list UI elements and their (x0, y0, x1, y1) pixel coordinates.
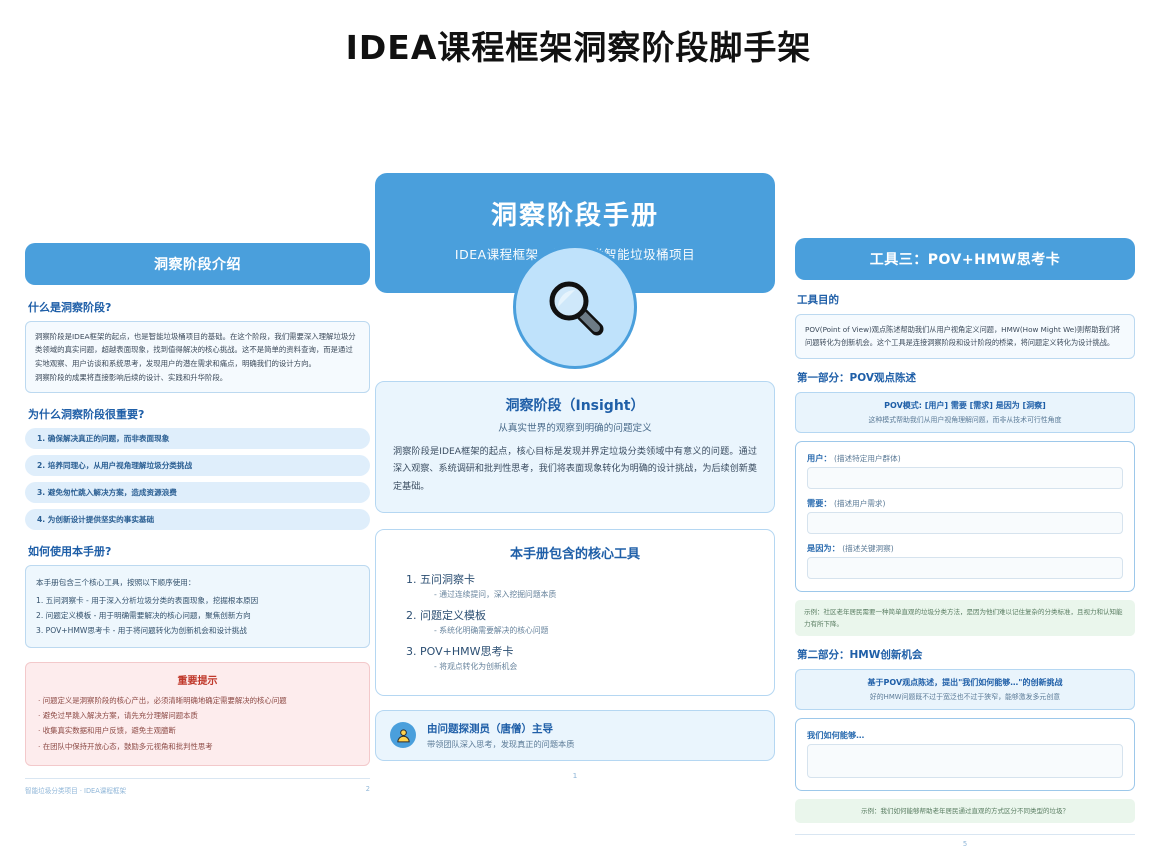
field-label-main: 是因为： (807, 543, 840, 553)
pov-field-need: 需要： (描述用户需求) (807, 497, 1123, 534)
hmw-pattern: 基于POV观点陈述，提出"我们如何能够…"的创新挑战 (805, 677, 1125, 688)
hmw-example: 示例：我们如何能够帮助老年居民通过直观的方式区分不同类型的垃圾？ (795, 799, 1135, 823)
tool-desc: - 将观点转化为创新机会 (434, 661, 754, 672)
field-label: 需要： (描述用户需求) (807, 497, 1123, 509)
field-label: 我们如何能够… (807, 729, 1123, 741)
insight-card-body: 洞察阶段是IDEA框架的起点，核心目标是发现并界定垃圾分类领域中有意义的问题。通… (393, 444, 757, 497)
how-to-use-intro: 本手册包含三个核心工具，按照以下顺序使用： (36, 575, 359, 590)
pov-pattern-sub: 这种模式帮助我们从用户视角理解问题，而非从技术可行性角度 (805, 414, 1125, 424)
core-tools-title: 本手册包含的核心工具 (396, 543, 754, 562)
field-label: 是因为： (描述关键洞察) (807, 542, 1123, 554)
handbook-title: 洞察阶段手册 (375, 195, 775, 232)
list-item: 收集真实数据和用户反馈，避免主观臆断 (38, 723, 357, 738)
right-page-number: 5 (795, 834, 1135, 848)
list-item: 3. 避免匆忙跳入解决方案，造成资源浪费 (25, 482, 370, 503)
pages-container: 洞察阶段介绍 什么是洞察阶段? 洞察阶段是IDEA框架的起点，也是智能垃圾桶项目… (0, 68, 1157, 768)
center-page: 洞察阶段手册 IDEA课程框架 · 垃圾分类智能垃圾桶项目 洞察阶段（Insig… (375, 173, 775, 763)
what-is-insight-body: 洞察阶段是IDEA框架的起点，也是智能垃圾桶项目的基础。在这个阶段，我们需要深入… (25, 321, 370, 394)
page-title: IDEA课程框架洞察阶段脚手架 (0, 0, 1157, 68)
list-item: 3. POV+HMW思考卡 - 用于将问题转化为创新机会和设计挑战 (36, 623, 359, 638)
left-page-footer: 智能垃圾分类项目 · IDEA课程框架 2 (25, 778, 370, 795)
list-item: 1. 五问洞察卡 - 用于深入分析垃圾分类的表面现象，挖掘根本原因 (36, 593, 359, 608)
list-item: 2. 问题定义模板 - 用于明确需要解决的核心问题，聚焦创新方向 (36, 608, 359, 623)
hmw-pattern-sub: 好的HMW问题既不过于宽泛也不过于狭窄，能够激发多元创意 (805, 691, 1125, 701)
field-label-hint: (描述用户需求) (834, 499, 886, 508)
list-item: 问题定义是洞察阶段的核心产出，必须清晰明确地确定需要解决的核心问题 (38, 693, 357, 708)
left-page-header: 洞察阶段介绍 (25, 243, 370, 285)
list-item: 2. 培养同理心，从用户视角理解垃圾分类挑战 (25, 455, 370, 476)
important-notice-title: 重要提示 (38, 672, 357, 687)
list-item: 1. 确保解决真正的问题，而非表面现象 (25, 428, 370, 449)
part1-title: 第一部分：POV观点陈述 (797, 370, 1135, 385)
pov-field-because: 是因为： (描述关键洞察) (807, 542, 1123, 579)
insight-card-subtitle: 从真实世界的观察到明确的问题定义 (393, 420, 757, 434)
center-page-number: 1 (375, 771, 775, 780)
center-body: 洞察阶段（Insight） 从真实世界的观察到明确的问题定义 洞察阶段是IDEA… (375, 381, 775, 780)
core-tools-card: 本手册包含的核心工具 1. 五问洞察卡 - 通过连续提问，深入挖掘问题本质 2.… (375, 529, 775, 696)
tool-purpose-body: POV(Point of View)观点陈述帮助我们从用户视角定义问题，HMW(… (795, 314, 1135, 359)
pov-field-user: 用户： (描述特定用户群体) (807, 452, 1123, 489)
why-insight-list: 1. 确保解决真正的问题，而非表面现象 2. 培养同理心，从用户视角理解垃圾分类… (25, 428, 370, 530)
field-label: 用户： (描述特定用户群体) (807, 452, 1123, 464)
insight-card-title: 洞察阶段（Insight） (393, 395, 757, 415)
important-notice-list: 问题定义是洞察阶段的核心产出，必须清晰明确地确定需要解决的核心问题 避免过早跳入… (38, 693, 357, 754)
footer-page-number: 2 (366, 785, 370, 795)
person-badge-icon (390, 722, 416, 748)
tool-desc: - 通过连续提问，深入挖掘问题本质 (434, 589, 754, 600)
insight-definition-card: 洞察阶段（Insight） 从真实世界的观察到明确的问题定义 洞察阶段是IDEA… (375, 381, 775, 513)
tool-name: 2. 问题定义模板 (406, 607, 754, 623)
need-input[interactable] (807, 512, 1123, 534)
because-input[interactable] (807, 557, 1123, 579)
tool-name: 1. 五问洞察卡 (406, 571, 754, 587)
hmw-input[interactable] (807, 744, 1123, 778)
field-label-main: 用户： (807, 453, 832, 463)
footer-text: 智能垃圾分类项目 · IDEA课程框架 (25, 785, 126, 795)
field-label-main: 需要： (807, 498, 832, 508)
list-item: 2. 问题定义模板 - 系统化明确需要解决的核心问题 (396, 607, 754, 636)
tool-purpose-title: 工具目的 (797, 292, 1135, 307)
lead-role-text: 由问题探测员（唐僧）主导 带领团队深入思考，发现真正的问题本质 (427, 721, 574, 750)
tool-name: 3. POV+HMW思考卡 (406, 643, 754, 659)
pov-pattern: POV模式: [用户] 需要 [需求] 是因为 [洞察] (805, 400, 1125, 411)
user-input[interactable] (807, 467, 1123, 489)
field-label-hint: (描述特定用户群体) (834, 454, 901, 463)
how-to-use-body: 本手册包含三个核心工具，按照以下顺序使用： 1. 五问洞察卡 - 用于深入分析垃… (25, 565, 370, 648)
why-insight-title: 为什么洞察阶段很重要? (28, 406, 370, 422)
tool-desc: - 系统化明确需要解决的核心问题 (434, 625, 754, 636)
pov-pattern-box: POV模式: [用户] 需要 [需求] 是因为 [洞察] 这种模式帮助我们从用户… (795, 392, 1135, 433)
hmw-pattern-box: 基于POV观点陈述，提出"我们如何能够…"的创新挑战 好的HMW问题既不过于宽泛… (795, 669, 1135, 710)
right-page-header: 工具三：POV+HMW思考卡 (795, 238, 1135, 280)
how-to-use-title: 如何使用本手册? (28, 543, 370, 559)
list-item: 在团队中保持开放心态，鼓励多元视角和批判性思考 (38, 739, 357, 754)
list-item: 避免过早跳入解决方案，请先充分理解问题本质 (38, 708, 357, 723)
pov-example: 示例：社区老年居民需要一种简单直观的垃圾分类方法，是因为他们难以记住复杂的分类标… (795, 600, 1135, 636)
lead-role-subtitle: 带领团队深入思考，发现真正的问题本质 (427, 738, 574, 750)
what-is-insight-title: 什么是洞察阶段? (28, 299, 370, 315)
hmw-form: 我们如何能够… (795, 718, 1135, 791)
field-label-main: 我们如何能够… (807, 730, 864, 740)
lead-role-card: 由问题探测员（唐僧）主导 带领团队深入思考，发现真正的问题本质 (375, 710, 775, 761)
important-notice: 重要提示 问题定义是洞察阶段的核心产出，必须清晰明确地确定需要解决的核心问题 避… (25, 662, 370, 766)
field-label-hint: (描述关键洞察) (842, 544, 894, 553)
list-item: 4. 为创新设计提供坚实的事实基础 (25, 509, 370, 530)
pov-form: 用户： (描述特定用户群体) 需要： (描述用户需求) 是因为： (描述关键洞察… (795, 441, 1135, 592)
magnifier-icon (513, 245, 637, 369)
list-item: 1. 五问洞察卡 - 通过连续提问，深入挖掘问题本质 (396, 571, 754, 600)
center-hero: 洞察阶段手册 IDEA课程框架 · 垃圾分类智能垃圾桶项目 (375, 173, 775, 293)
part2-title: 第二部分：HMW创新机会 (797, 647, 1135, 662)
right-page: 工具三：POV+HMW思考卡 工具目的 POV(Point of View)观点… (795, 238, 1135, 733)
list-item: 3. POV+HMW思考卡 - 将观点转化为创新机会 (396, 643, 754, 672)
left-page: 洞察阶段介绍 什么是洞察阶段? 洞察阶段是IDEA框架的起点，也是智能垃圾桶项目… (25, 243, 370, 708)
magnifier-badge (513, 245, 637, 369)
lead-role-title: 由问题探测员（唐僧）主导 (427, 721, 574, 736)
